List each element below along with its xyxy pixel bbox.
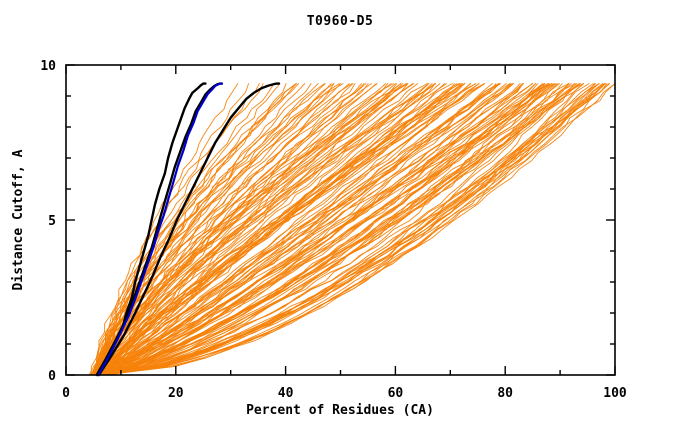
x-axis-tick-labels: 020406080100 bbox=[62, 386, 627, 401]
x-tick-label: 100 bbox=[603, 386, 627, 401]
population-curves-group bbox=[88, 84, 615, 375]
x-axis-title: Percent of Residues (CA) bbox=[246, 403, 434, 418]
population-curve bbox=[104, 84, 485, 375]
x-tick-label: 0 bbox=[62, 386, 70, 401]
x-tick-label: 40 bbox=[278, 386, 294, 401]
y-axis-title: Distance Cutoff, A bbox=[11, 149, 26, 290]
x-tick-label: 80 bbox=[497, 386, 513, 401]
y-tick-label: 0 bbox=[48, 369, 56, 384]
chart-svg: 020406080100 0510 Percent of Residues (C… bbox=[0, 0, 680, 440]
y-tick-label: 5 bbox=[48, 214, 56, 229]
y-tick-label: 10 bbox=[40, 59, 56, 74]
x-tick-label: 60 bbox=[388, 386, 404, 401]
x-tick-label: 20 bbox=[168, 386, 184, 401]
chart-plot-area: 020406080100 0510 Percent of Residues (C… bbox=[0, 0, 680, 440]
y-axis-tick-labels: 0510 bbox=[40, 59, 56, 384]
